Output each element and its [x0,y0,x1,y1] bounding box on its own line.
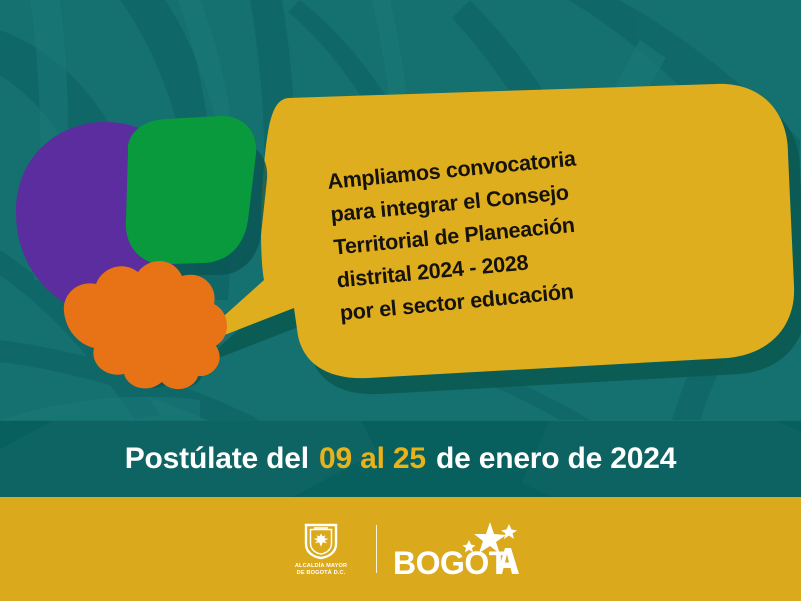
logo-divider [376,525,377,573]
bogota-wordmark-text: BOGOT [519,520,520,521]
date-banner-text: Postúlate del 09 al 25 de enero de 2024 [0,421,801,497]
date-text-before: Postúlate del [125,442,317,476]
poster-canvas: Ampliamos convocatoria para integrar el … [0,0,801,601]
date-range-highlight: 09 al 25 [317,442,428,476]
bogota-brand-logo: BOGOT BOGOT [393,520,519,578]
date-text-after: de enero de 2024 [428,442,676,476]
bogota-wordmark: BOGOT [393,545,509,578]
footer-logos: ALCALDÍA MAYOR DE BOGOTÁ D.C. BOGOT BOGO… [0,497,801,601]
speech-bubble-text: Ampliamos convocatoria para integrar el … [326,132,700,330]
date-banner: Postúlate del 09 al 25 de enero de 2024 [0,421,801,497]
bogota-shield-icon [303,522,339,560]
alcaldia-caption: ALCALDÍA MAYOR DE BOGOTÁ D.C. [295,563,347,577]
alcaldia-mayor-logo: ALCALDÍA MAYOR DE BOGOTÁ D.C. [282,522,360,577]
